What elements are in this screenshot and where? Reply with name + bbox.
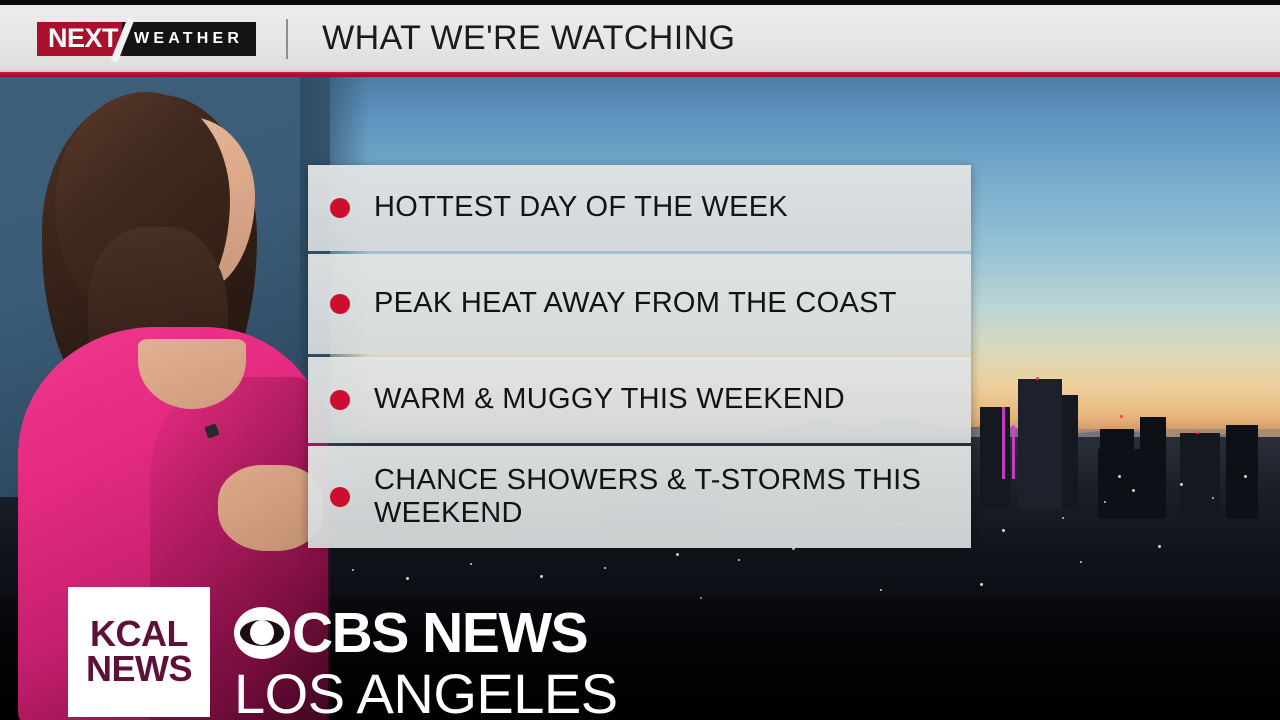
watching-list-panel: HOTTEST DAY OF THE WEEK PEAK HEAT AWAY F… bbox=[308, 165, 971, 545]
list-item: CHANCE SHOWERS & T-STORMS THIS WEEKEND bbox=[308, 446, 971, 548]
cbs-news-branding: CBS NEWS LOS ANGELES bbox=[234, 602, 618, 720]
tower-beacon-light bbox=[1196, 431, 1199, 434]
list-item-label: PEAK HEAT AWAY FROM THE COAST bbox=[374, 287, 897, 320]
window-light bbox=[1104, 501, 1106, 503]
bullet-dot-icon bbox=[330, 198, 350, 218]
cbs-eye-icon bbox=[234, 607, 290, 659]
kcal-logo-line2: NEWS bbox=[86, 652, 192, 687]
neon-light bbox=[1012, 425, 1015, 479]
neon-light bbox=[1002, 407, 1005, 479]
bullet-dot-icon bbox=[330, 294, 350, 314]
window-light bbox=[1002, 529, 1005, 532]
window-light bbox=[1062, 517, 1064, 519]
kcal-logo-line1: KCAL bbox=[90, 617, 188, 652]
list-item: HOTTEST DAY OF THE WEEK bbox=[308, 165, 971, 251]
cbs-news-label: CBS NEWS bbox=[292, 605, 587, 662]
window-light bbox=[1212, 497, 1214, 499]
window-light bbox=[1118, 475, 1121, 478]
list-item-label: WARM & MUGGY THIS WEEKEND bbox=[374, 383, 845, 416]
next-weather-logo-next: NEXT bbox=[37, 22, 122, 56]
list-item-label: HOTTEST DAY OF THE WEEK bbox=[374, 191, 788, 224]
cbs-market-label: LOS ANGELES bbox=[234, 666, 618, 720]
cbs-news-row: CBS NEWS bbox=[234, 602, 618, 664]
building-tower bbox=[1018, 379, 1062, 509]
next-weather-logo: NEXT WEATHER bbox=[37, 22, 256, 56]
page-title: WHAT WE'RE WATCHING bbox=[322, 19, 735, 58]
window-light bbox=[1180, 483, 1183, 486]
window-light bbox=[352, 569, 354, 571]
window-light bbox=[676, 553, 679, 556]
broadcast-screen: NEXT WEATHER WHAT WE'RE WATCHING bbox=[0, 0, 1280, 720]
building-tower bbox=[980, 407, 1010, 509]
building-tower bbox=[1062, 395, 1078, 509]
window-light bbox=[406, 577, 409, 580]
bullet-dot-icon bbox=[330, 487, 350, 507]
window-light bbox=[604, 567, 606, 569]
window-light bbox=[1132, 489, 1135, 492]
list-item: WARM & MUGGY THIS WEEKEND bbox=[308, 357, 971, 443]
list-item-label: CHANCE SHOWERS & T-STORMS THIS WEEKEND bbox=[374, 464, 953, 530]
window-light bbox=[1244, 475, 1247, 478]
header-divider bbox=[286, 19, 288, 59]
video-feed: HOTTEST DAY OF THE WEEK PEAK HEAT AWAY F… bbox=[0, 77, 1280, 720]
list-item: PEAK HEAT AWAY FROM THE COAST bbox=[308, 254, 971, 354]
header-bar: NEXT WEATHER WHAT WE'RE WATCHING bbox=[0, 5, 1280, 72]
next-weather-logo-weather: WEATHER bbox=[122, 22, 256, 56]
window-light bbox=[1158, 545, 1161, 548]
building-tower bbox=[1226, 425, 1258, 519]
window-light bbox=[980, 583, 983, 586]
window-light bbox=[1080, 561, 1082, 563]
kcal-news-logo: KCAL NEWS bbox=[68, 587, 210, 717]
window-light bbox=[470, 563, 472, 565]
window-light bbox=[880, 589, 882, 591]
window-light bbox=[540, 575, 543, 578]
tower-beacon-light bbox=[1036, 377, 1039, 380]
tower-beacon-light bbox=[1120, 415, 1123, 418]
building-tower bbox=[1098, 449, 1158, 519]
window-light bbox=[738, 559, 740, 561]
bullet-dot-icon bbox=[330, 390, 350, 410]
building-tower bbox=[1180, 433, 1220, 519]
